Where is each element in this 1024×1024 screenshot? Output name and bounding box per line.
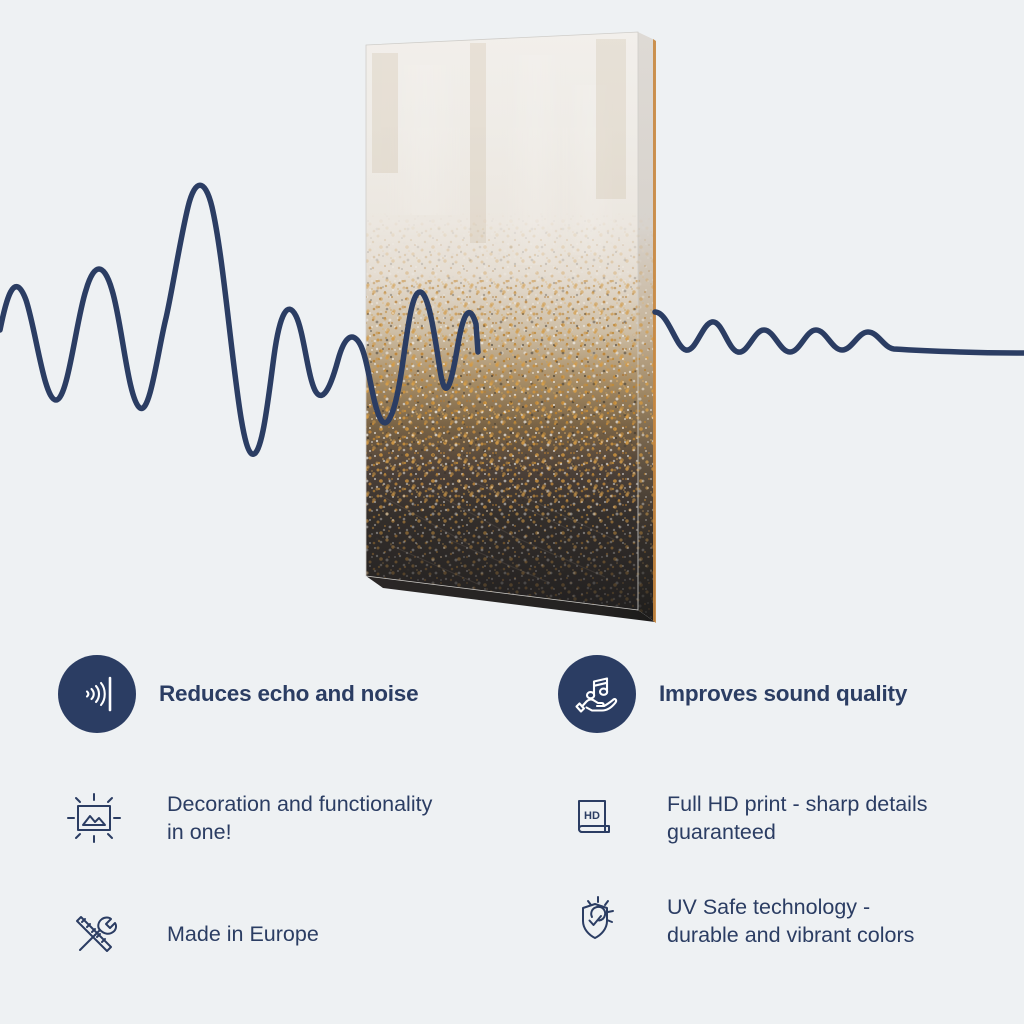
badge-circle [558, 655, 636, 733]
feature-label: UV Safe technology - durable and vibrant… [667, 893, 914, 949]
feature-label: Decoration and functionality in one! [167, 790, 432, 846]
feature-uv-safe[interactable]: UV Safe technology - durable and vibrant… [563, 890, 914, 952]
feature-hd-print[interactable]: HD Full HD print - sharp details guarant… [563, 787, 927, 849]
feature-line: Made in Europe [167, 920, 319, 948]
badge-circle [58, 655, 136, 733]
badge-improves-sound[interactable]: Improves sound quality [558, 655, 907, 733]
feature-made-in-europe[interactable]: Made in Europe [63, 903, 319, 965]
uv-shield-sun-icon [564, 891, 624, 951]
badge-label: Improves sound quality [659, 681, 907, 707]
feature-line: Decoration and functionality [167, 790, 432, 818]
feature-line: durable and vibrant colors [667, 921, 914, 949]
feature-decoration[interactable]: Decoration and functionality in one! [63, 787, 432, 849]
feature-line: UV Safe technology - [667, 893, 914, 921]
badge-label: Reduces echo and noise [159, 681, 418, 707]
feature-icon-wrap: HD [563, 787, 625, 849]
hd-label: HD [584, 810, 600, 822]
feature-icon-wrap [63, 903, 125, 965]
feature-label: Made in Europe [167, 920, 319, 948]
badge-reduces-echo[interactable]: Reduces echo and noise [58, 655, 418, 733]
feature-icon-wrap [563, 890, 625, 952]
feature-label: Full HD print - sharp details guaranteed [667, 790, 927, 846]
feature-icon-wrap [63, 787, 125, 849]
infographic-stage: Reduces echo and noise Improves sound qu… [0, 0, 1024, 1024]
feature-line: guaranteed [667, 818, 927, 846]
framed-picture-icon [64, 788, 124, 848]
canvas-product-image [350, 25, 670, 650]
ruler-hammer-icon [64, 904, 124, 964]
music-note-hand-icon [573, 670, 621, 718]
feature-line: Full HD print - sharp details [667, 790, 927, 818]
hd-print-icon: HD [564, 788, 624, 848]
sound-wave-wall-icon [73, 670, 121, 718]
feature-line: in one! [167, 818, 432, 846]
